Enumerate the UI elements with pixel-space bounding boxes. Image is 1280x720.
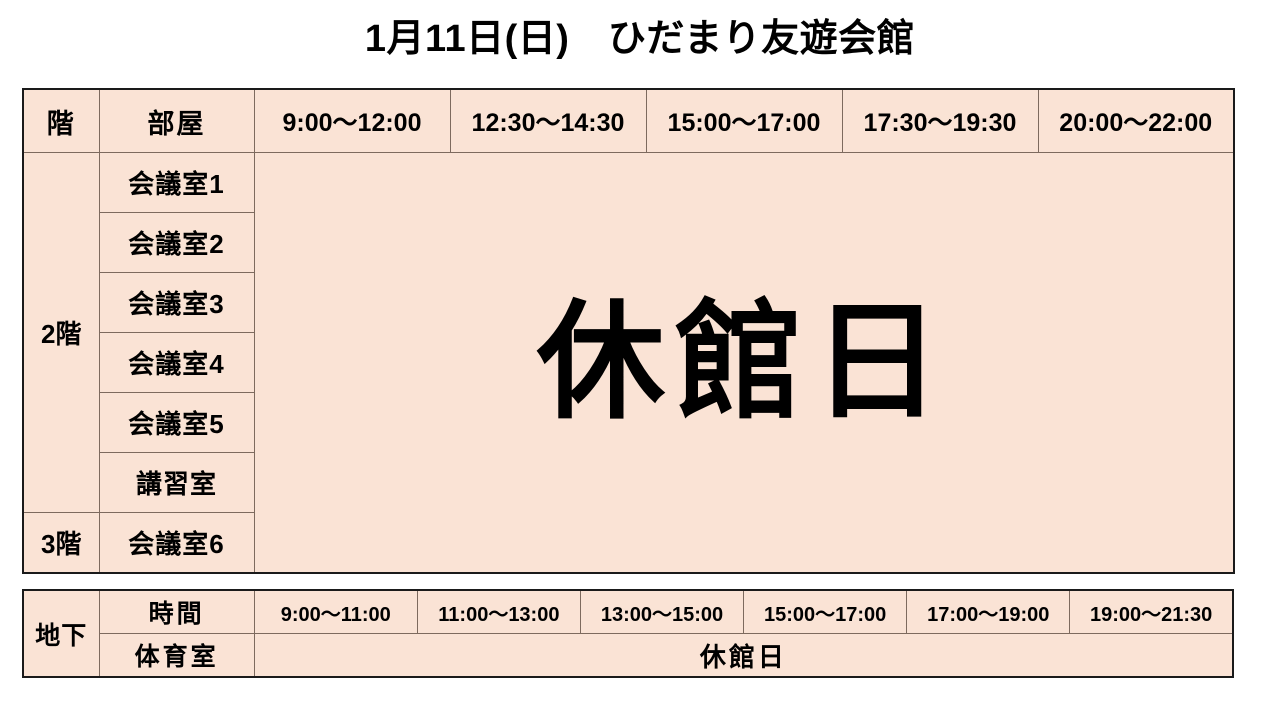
lower-closed-status: 休館日 [254,634,1233,678]
room-cell-kaigishitsu4: 会議室4 [99,333,254,393]
lower-header-row: 地下 時間 9:00〜11:00 11:00〜13:00 13:00〜15:00… [23,590,1233,634]
lower-time-label: 時間 [99,590,254,634]
upper-header-slot-4: 17:30〜19:30 [842,89,1038,153]
upper-closed-status: 休館日 [254,153,1234,574]
upper-header-slot-1: 9:00〜12:00 [254,89,450,153]
room-cell-taiikushitsu: 体育室 [99,634,254,678]
page-title: 1月11日(日) ひだまり友遊会館 [0,16,1280,62]
room-cell-kaigishitsu2: 会議室2 [99,213,254,273]
floor-cell-3f: 3階 [23,513,99,574]
upper-header-slot-2: 12:30〜14:30 [450,89,646,153]
upper-header-row: 階 部屋 9:00〜12:00 12:30〜14:30 15:00〜17:00 … [23,89,1234,153]
room-cell-kaigishitsu1: 会議室1 [99,153,254,213]
schedule-page: 1月11日(日) ひだまり友遊会館 階 部屋 9:00〜12:00 12:30〜… [0,0,1280,720]
upper-header-room: 部屋 [99,89,254,153]
lower-header-slot-5: 17:00〜19:00 [907,590,1070,634]
lower-header-slot-6: 19:00〜21:30 [1070,590,1233,634]
upper-schedule-table: 階 部屋 9:00〜12:00 12:30〜14:30 15:00〜17:00 … [22,88,1235,574]
table-row: 2階 会議室1 休館日 [23,153,1234,213]
upper-header-floor: 階 [23,89,99,153]
lower-header-slot-1: 9:00〜11:00 [254,590,417,634]
upper-header-slot-5: 20:00〜22:00 [1038,89,1234,153]
room-cell-kaigishitsu5: 会議室5 [99,393,254,453]
room-cell-kaigishitsu3: 会議室3 [99,273,254,333]
lower-header-slot-3: 13:00〜15:00 [580,590,743,634]
table-row: 体育室 休館日 [23,634,1233,678]
lower-header-slot-4: 15:00〜17:00 [744,590,907,634]
lower-schedule-table: 地下 時間 9:00〜11:00 11:00〜13:00 13:00〜15:00… [22,589,1234,678]
lower-header-slot-2: 11:00〜13:00 [417,590,580,634]
room-cell-kaigishitsu6: 会議室6 [99,513,254,574]
floor-cell-2f: 2階 [23,153,99,513]
upper-header-slot-3: 15:00〜17:00 [646,89,842,153]
room-cell-koshushitsu: 講習室 [99,453,254,513]
floor-cell-basement: 地下 [23,590,99,677]
